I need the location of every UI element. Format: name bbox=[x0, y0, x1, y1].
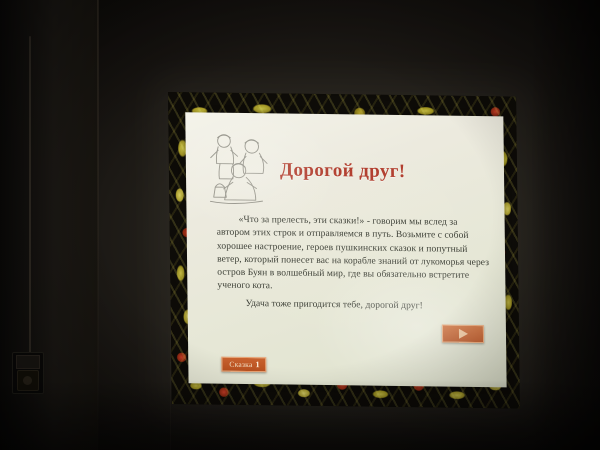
link-button-label: Сказка bbox=[229, 360, 252, 369]
hanging-cable bbox=[29, 36, 31, 358]
outlet-switch-plate bbox=[16, 355, 40, 369]
next-slide-button[interactable] bbox=[442, 325, 484, 344]
slide-paragraph-1: «Что за прелесть, эти сказки!» - говорим… bbox=[217, 214, 489, 292]
room-scene: Дорогой друг! «Что за прелесть, эти сказ… bbox=[0, 0, 600, 450]
fairy-tale-link-button[interactable]: Сказка 1 bbox=[221, 357, 267, 373]
play-triangle-right-icon bbox=[458, 329, 467, 339]
slide-paragraph-2: Удача тоже пригодится тебе, дорогой друг… bbox=[218, 296, 494, 313]
slide-title: Дорогой друг! bbox=[280, 159, 486, 184]
floor-shadow bbox=[0, 380, 600, 450]
slide-frame: Дорогой друг! «Что за прелесть, эти сказ… bbox=[168, 92, 520, 409]
slide-body-text: «Что за прелесть, эти сказки!» - говорим… bbox=[216, 213, 493, 314]
link-button-number: 1 bbox=[255, 360, 259, 369]
projected-slide: Дорогой друг! «Что за прелесть, эти сказ… bbox=[168, 92, 520, 409]
slide-content-card: Дорогой друг! «Что за прелесть, эти сказ… bbox=[185, 112, 506, 387]
folk-characters-sketch-icon bbox=[199, 126, 284, 211]
